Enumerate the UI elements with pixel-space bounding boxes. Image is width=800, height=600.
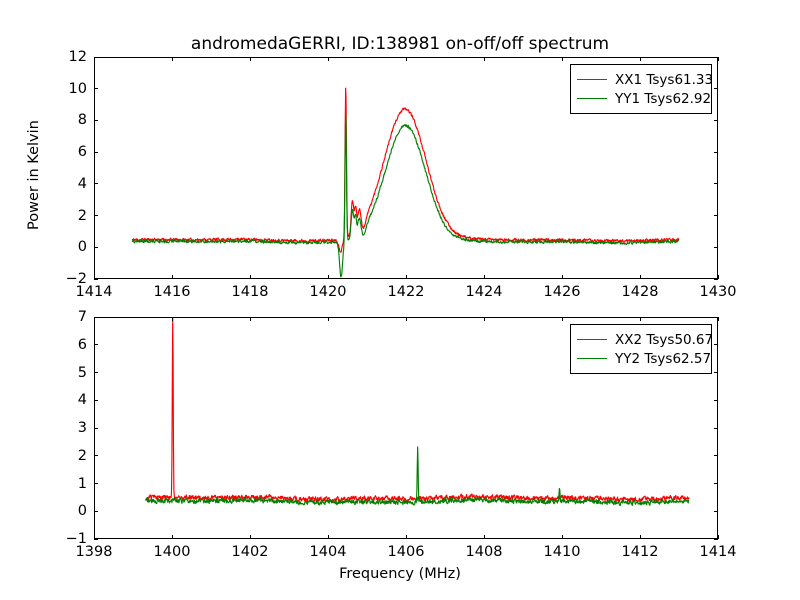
y-tick-mark bbox=[94, 511, 98, 512]
x-tick-mark bbox=[484, 317, 485, 321]
x-tick-mark bbox=[484, 57, 485, 61]
y-tick-label: 8 bbox=[46, 112, 87, 128]
legend-label-xx1: XX1 Tsys61.33 bbox=[615, 72, 713, 88]
top-legend: XX1 Tsys61.33 YY1 Tsys62.92 bbox=[570, 64, 712, 114]
y-tick-mark bbox=[714, 400, 718, 401]
y-tick-mark bbox=[94, 279, 98, 280]
bottom-legend: XX2 Tsys50.67 YY2 Tsys62.57 bbox=[570, 324, 712, 374]
y-tick-mark bbox=[714, 317, 718, 318]
x-tick-label: 1404 bbox=[310, 544, 347, 560]
y-tick-mark bbox=[714, 455, 718, 456]
y-tick-mark bbox=[94, 428, 98, 429]
x-tick-mark bbox=[562, 57, 563, 61]
y-tick-label: 10 bbox=[46, 81, 87, 97]
y-tick-mark bbox=[94, 344, 98, 345]
x-tick-mark bbox=[640, 275, 641, 279]
x-tick-mark bbox=[562, 535, 563, 539]
x-tick-label: 1416 bbox=[154, 284, 191, 300]
y-tick-mark bbox=[94, 152, 98, 153]
x-tick-mark bbox=[562, 317, 563, 321]
top-y-axis-label: Power in Kelvin bbox=[26, 120, 42, 230]
y-tick-mark bbox=[94, 455, 98, 456]
y-tick-label: 3 bbox=[46, 420, 87, 436]
x-tick-mark bbox=[172, 57, 173, 61]
y-tick-mark bbox=[714, 279, 718, 280]
y-tick-mark bbox=[94, 120, 98, 121]
x-tick-mark bbox=[562, 275, 563, 279]
x-tick-mark bbox=[94, 57, 95, 61]
legend-swatch-yy1 bbox=[577, 98, 607, 99]
y-tick-label: 6 bbox=[46, 144, 87, 160]
x-tick-label: 1412 bbox=[622, 544, 659, 560]
y-tick-mark bbox=[714, 344, 718, 345]
y-tick-label: 6 bbox=[46, 337, 87, 353]
y-tick-label: 1 bbox=[46, 476, 87, 492]
y-tick-mark bbox=[94, 317, 98, 318]
y-tick-mark bbox=[714, 152, 718, 153]
x-tick-mark bbox=[328, 57, 329, 61]
x-tick-mark bbox=[328, 317, 329, 321]
x-tick-mark bbox=[172, 317, 173, 321]
y-tick-mark bbox=[94, 483, 98, 484]
legend-label-yy1: YY1 Tsys62.92 bbox=[615, 91, 711, 107]
bottom-x-axis-label: Frequency (MHz) bbox=[0, 566, 800, 582]
y-tick-label: −2 bbox=[46, 271, 87, 287]
y-tick-mark bbox=[714, 88, 718, 89]
x-tick-mark bbox=[250, 57, 251, 61]
x-tick-label: 1424 bbox=[466, 284, 503, 300]
legend-item: XX1 Tsys61.33 bbox=[577, 70, 704, 89]
y-tick-mark bbox=[714, 120, 718, 121]
x-tick-label: 1406 bbox=[388, 544, 425, 560]
x-tick-label: 1422 bbox=[388, 284, 425, 300]
x-tick-label: 1426 bbox=[544, 284, 581, 300]
y-tick-label: 0 bbox=[46, 239, 87, 255]
trace-yy1 bbox=[132, 114, 679, 277]
x-tick-mark bbox=[328, 535, 329, 539]
y-tick-label: 0 bbox=[46, 503, 87, 519]
legend-item: YY1 Tsys62.92 bbox=[577, 89, 704, 108]
y-tick-label: 5 bbox=[46, 365, 87, 381]
x-tick-mark bbox=[484, 275, 485, 279]
y-tick-mark bbox=[714, 539, 718, 540]
figure-title: andromedaGERRI, ID:138981 on-off/off spe… bbox=[0, 34, 800, 54]
y-tick-label: −1 bbox=[46, 531, 87, 547]
y-tick-mark bbox=[94, 88, 98, 89]
y-tick-mark bbox=[714, 247, 718, 248]
x-tick-mark bbox=[640, 57, 641, 61]
y-tick-mark bbox=[94, 400, 98, 401]
x-tick-mark bbox=[406, 275, 407, 279]
x-tick-mark bbox=[718, 57, 719, 61]
legend-swatch-xx1 bbox=[577, 79, 607, 80]
y-tick-label: 2 bbox=[46, 208, 87, 224]
x-tick-mark bbox=[250, 535, 251, 539]
y-tick-mark bbox=[714, 372, 718, 373]
y-tick-mark bbox=[94, 57, 98, 58]
y-tick-label: 2 bbox=[46, 448, 87, 464]
x-tick-label: 1410 bbox=[544, 544, 581, 560]
x-tick-mark bbox=[94, 317, 95, 321]
x-tick-mark bbox=[172, 535, 173, 539]
x-tick-mark bbox=[250, 275, 251, 279]
x-tick-label: 1402 bbox=[232, 544, 269, 560]
y-tick-mark bbox=[94, 372, 98, 373]
y-tick-label: 4 bbox=[46, 176, 87, 192]
x-tick-mark bbox=[484, 535, 485, 539]
x-tick-label: 1418 bbox=[232, 284, 269, 300]
y-tick-mark bbox=[714, 57, 718, 58]
x-tick-mark bbox=[172, 275, 173, 279]
y-tick-mark bbox=[714, 511, 718, 512]
y-tick-mark bbox=[714, 428, 718, 429]
figure-canvas: andromedaGERRI, ID:138981 on-off/off spe… bbox=[0, 0, 800, 600]
x-tick-mark bbox=[328, 275, 329, 279]
y-tick-mark bbox=[714, 215, 718, 216]
legend-label-yy2: YY2 Tsys62.57 bbox=[615, 351, 711, 367]
x-tick-label: 1400 bbox=[154, 544, 191, 560]
legend-item: YY2 Tsys62.57 bbox=[577, 349, 704, 368]
x-tick-mark bbox=[640, 317, 641, 321]
x-tick-label: 1428 bbox=[622, 284, 659, 300]
y-tick-label: 4 bbox=[46, 392, 87, 408]
y-tick-label: 12 bbox=[46, 49, 87, 65]
x-tick-mark bbox=[640, 535, 641, 539]
x-tick-label: 1420 bbox=[310, 284, 347, 300]
y-tick-mark bbox=[94, 183, 98, 184]
legend-label-xx2: XX2 Tsys50.67 bbox=[615, 332, 713, 348]
x-tick-mark bbox=[406, 535, 407, 539]
y-tick-label: 7 bbox=[46, 309, 87, 325]
x-tick-mark bbox=[250, 317, 251, 321]
y-tick-mark bbox=[94, 247, 98, 248]
legend-item: XX2 Tsys50.67 bbox=[577, 330, 704, 349]
legend-swatch-yy2 bbox=[577, 358, 607, 359]
x-tick-label: 1408 bbox=[466, 544, 503, 560]
y-tick-mark bbox=[714, 183, 718, 184]
y-tick-mark bbox=[94, 539, 98, 540]
y-tick-mark bbox=[94, 215, 98, 216]
x-tick-mark bbox=[406, 57, 407, 61]
x-tick-label: 1430 bbox=[700, 284, 737, 300]
legend-swatch-xx2 bbox=[577, 339, 607, 340]
x-tick-mark bbox=[406, 317, 407, 321]
y-tick-mark bbox=[714, 483, 718, 484]
x-tick-label: 1414 bbox=[700, 544, 737, 560]
x-tick-mark bbox=[718, 317, 719, 321]
